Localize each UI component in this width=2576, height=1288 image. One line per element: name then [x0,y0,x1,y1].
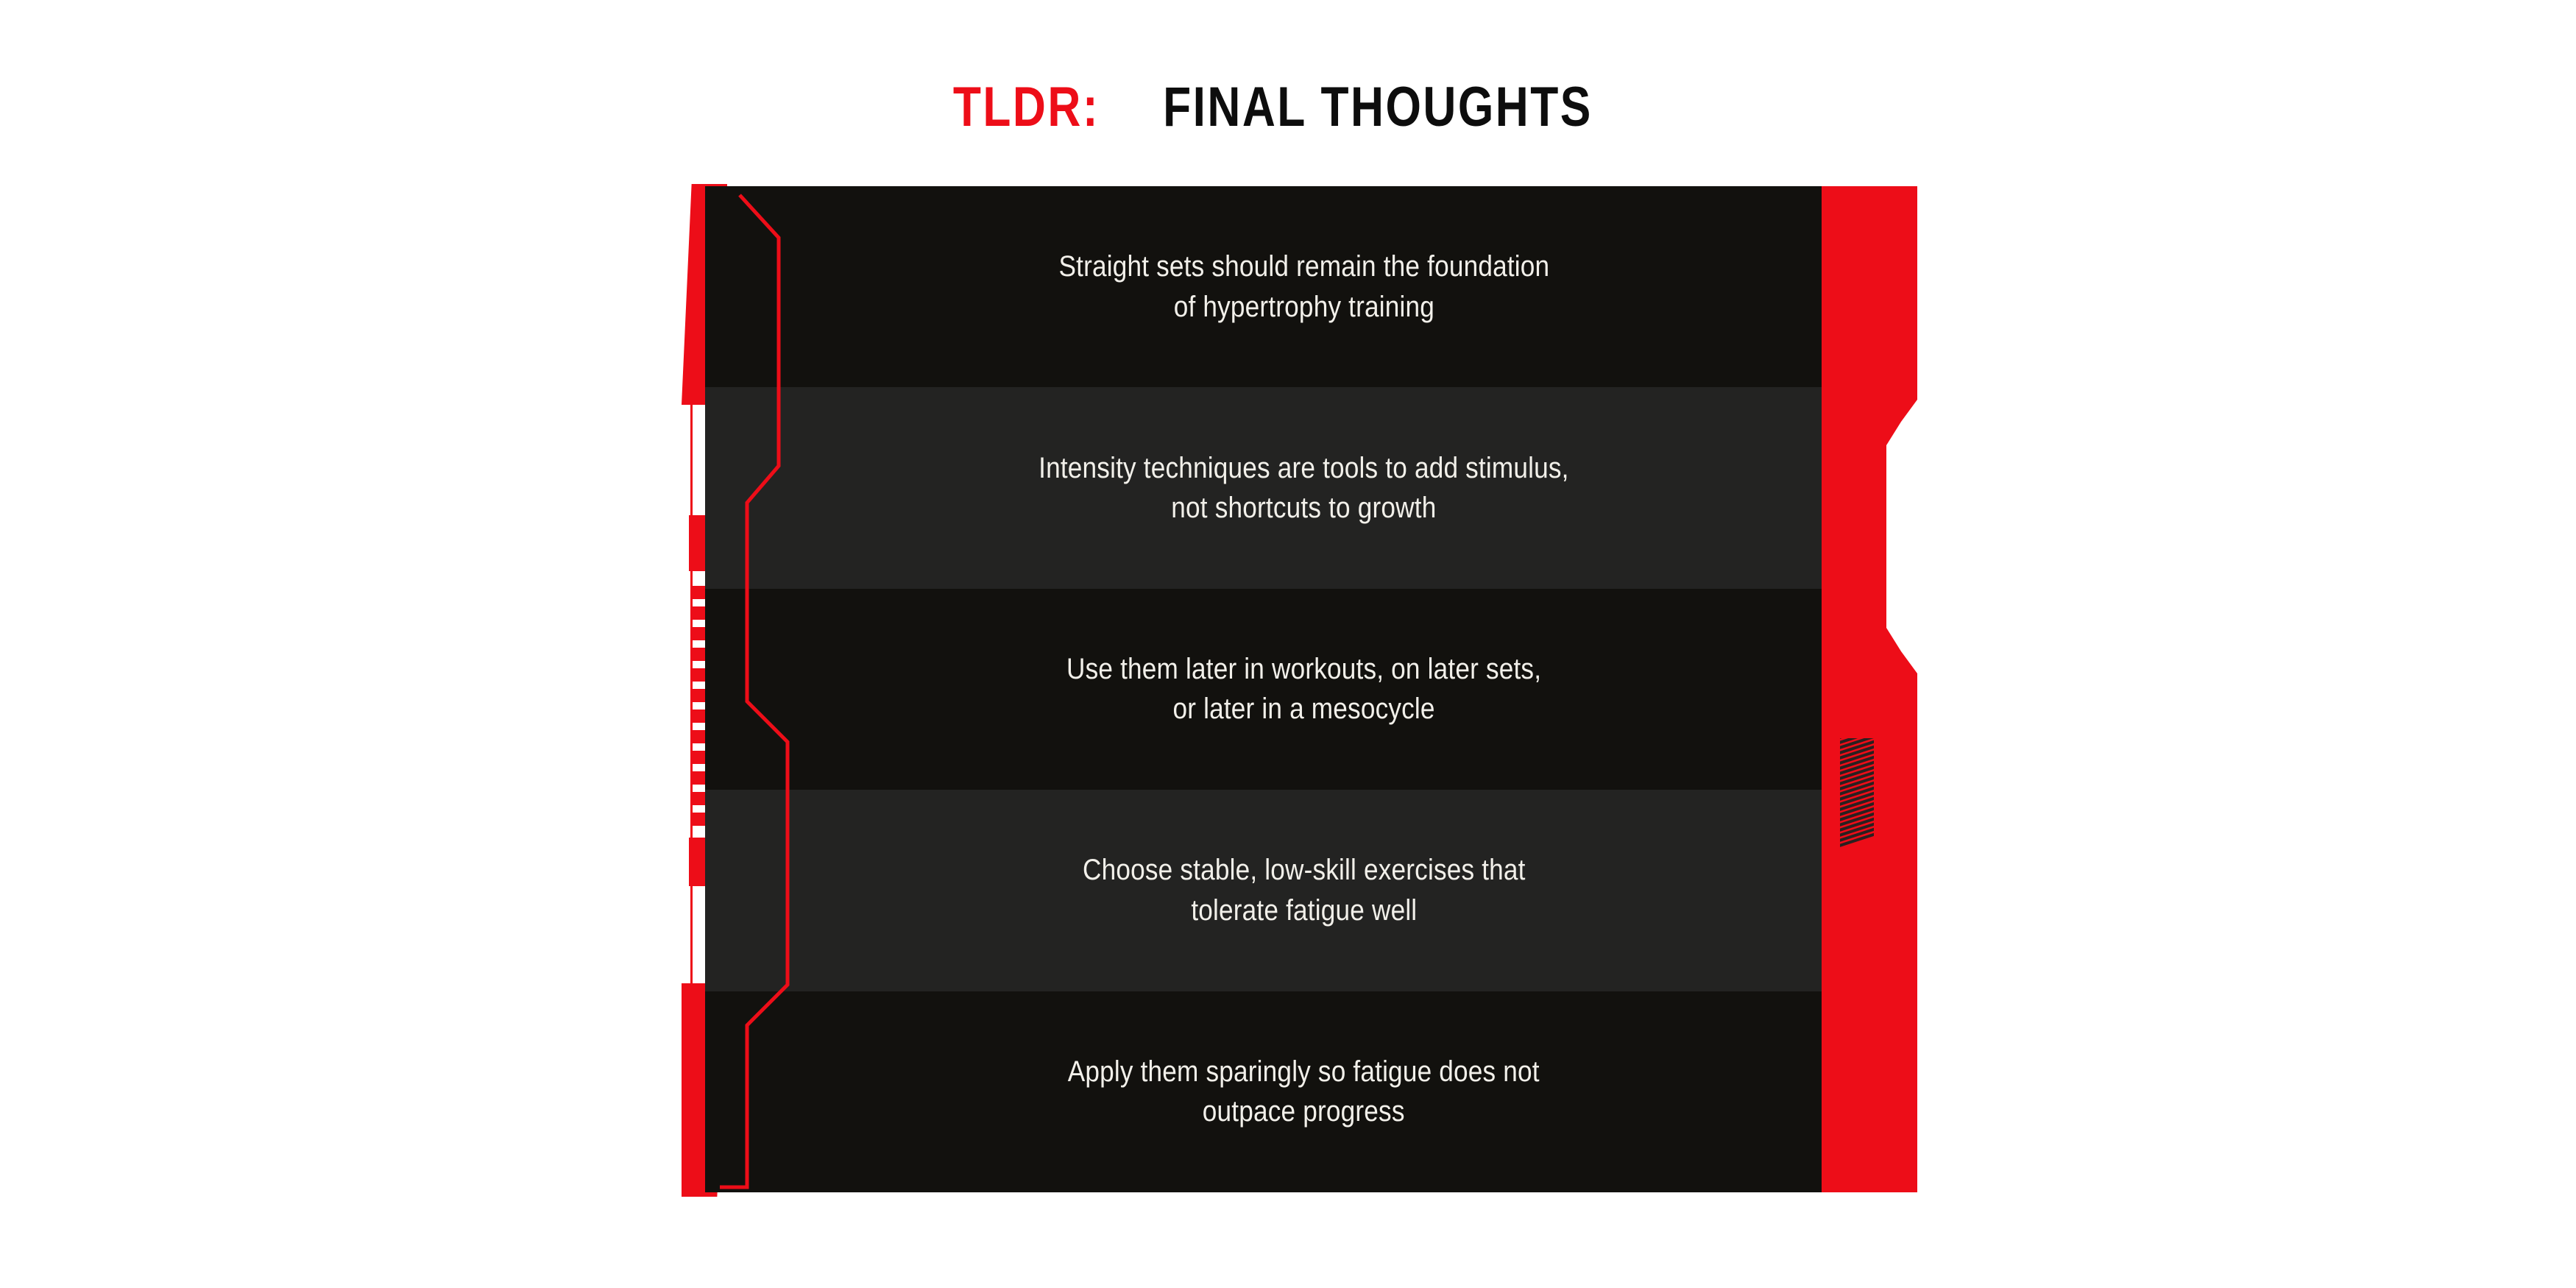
panel-row-text: Apply them sparingly so fatigue does not… [1068,1052,1540,1132]
panel-row: Use them later in workouts, on later set… [705,589,1822,790]
content-panel: Straight sets should remain the foundati… [705,186,1822,1192]
panel-row: Intensity techniques are tools to add st… [705,387,1822,588]
panel-row: Apply them sparingly so fatigue does not… [705,991,1822,1192]
panel-row-text: Intensity techniques are tools to add st… [1038,448,1569,528]
panel-row-text: Use them later in workouts, on later set… [1066,649,1541,729]
panel-row-text: Choose stable, low-skill exercises that … [1083,850,1526,930]
right-hatch-lines-decoration [1840,738,1874,852]
right-red-block-decoration [1822,186,1917,1192]
graphic-stage: Straight sets should remain the foundati… [0,0,2576,1288]
panel-row: Choose stable, low-skill exercises that … [705,790,1822,991]
panel-row-text: Straight sets should remain the foundati… [1058,247,1549,327]
panel-row: Straight sets should remain the foundati… [705,186,1822,387]
